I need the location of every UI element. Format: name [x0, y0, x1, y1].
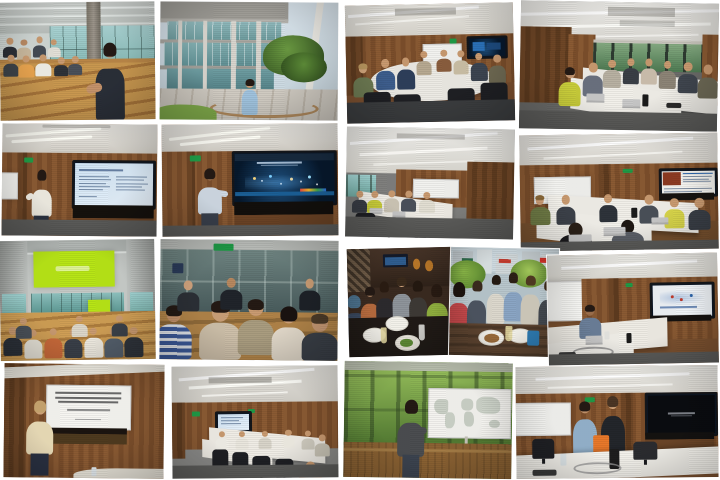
scene-audience-closeup: [159, 239, 338, 361]
laptop-icon: [586, 336, 603, 343]
scene-two-presenters: [515, 365, 718, 479]
projection-screen: [46, 384, 132, 430]
scene-conference-empty: [345, 127, 515, 240]
scene-seminar-blue: [2, 123, 158, 236]
tile-seminar-blue-slide[interactable]: [2, 123, 158, 236]
laptop-icon: [604, 227, 626, 234]
tile-campus-building[interactable]: [160, 1, 339, 120]
scene-world-map: [343, 361, 513, 479]
scene-campus-exterior: [160, 1, 339, 120]
tile-meeting-screen-share[interactable]: [519, 133, 719, 252]
monitor-icon: [72, 160, 157, 210]
exit-sign-icon: [623, 169, 633, 174]
whiteboard: [515, 402, 570, 436]
person-attendee: [159, 306, 192, 359]
tile-audience-closeup[interactable]: [159, 239, 338, 361]
scene-oval-meeting: [345, 2, 515, 123]
person-attendee: [302, 315, 338, 361]
world-map-board: [428, 388, 511, 440]
tile-two-presenters[interactable]: [515, 365, 718, 479]
tile-classroom-rows[interactable]: [172, 365, 339, 478]
photo-collage: Research Workshop Photo Collage: [0, 0, 720, 480]
person-attendee: [199, 302, 242, 360]
tile-conference-room-empty[interactable]: [345, 127, 515, 240]
person-speaker: [93, 44, 128, 120]
scene-dinner-indoor: [347, 247, 456, 358]
laptop-icon: [622, 99, 640, 106]
monitor-icon: [232, 150, 337, 206]
tile-atrium-green-screen[interactable]: [0, 239, 156, 361]
laptop-icon: [587, 94, 605, 101]
scene-dinner-outdoor: [449, 247, 559, 357]
person-seated: [579, 305, 602, 338]
tile-round-table-meeting[interactable]: [345, 2, 515, 123]
scene-atrium-green: [0, 239, 156, 361]
tile-seminar-night-slide[interactable]: [162, 123, 339, 237]
scene-speaker-white-slide: [3, 363, 164, 479]
monitor-icon: [645, 392, 718, 437]
ceiling: [2, 123, 157, 156]
scene-seminar-night: [162, 123, 339, 237]
scene-classroom-rows: [172, 365, 339, 478]
tile-dinner-outdoor[interactable]: [449, 247, 559, 357]
scene-meeting-screenshare: [519, 133, 719, 252]
scene-single-presenter: [547, 253, 719, 366]
person-speaker: [26, 402, 54, 475]
tile-lecture-steps[interactable]: [0, 1, 156, 121]
person-presenter: [397, 401, 425, 478]
tile-speaker-whiteboard-slide[interactable]: [3, 363, 164, 479]
exit-sign-icon: [214, 243, 234, 250]
tile-world-map[interactable]: [343, 361, 513, 479]
person-standing: [241, 80, 257, 116]
person-attendee: [238, 300, 274, 356]
tile-dinner-indoor[interactable]: [347, 247, 456, 358]
tile-single-presenter-room[interactable]: [547, 253, 719, 366]
laptop-icon: [651, 217, 669, 223]
scene-long-table-windows: [519, 0, 719, 131]
tile-long-table-windows[interactable]: [519, 0, 719, 131]
person-attendee: [271, 307, 305, 360]
scene-atrium-steps: [0, 1, 156, 121]
exit-sign-icon: [24, 157, 33, 163]
